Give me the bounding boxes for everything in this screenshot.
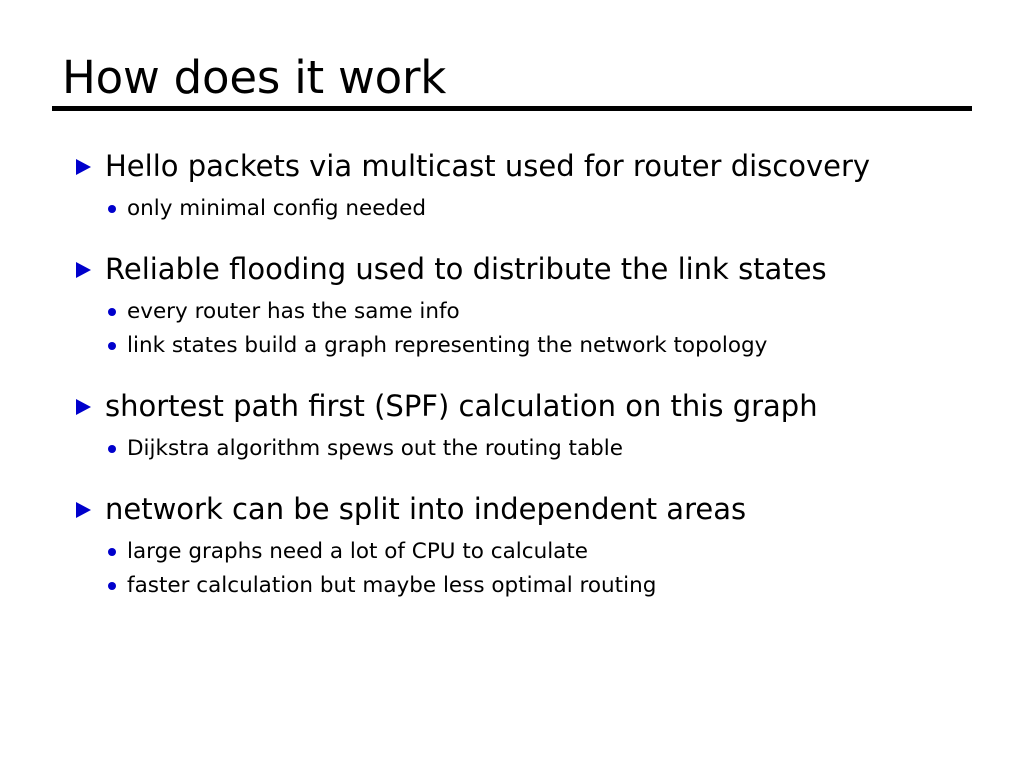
title-block: How does it work	[52, 52, 972, 111]
sub-bullet-list: only minimal config needed	[0, 192, 1024, 226]
bullet-group: Reliable flooding used to distribute the…	[0, 246, 1024, 363]
sub-bullet-list: large graphs need a lot of CPU to calcul…	[0, 535, 1024, 603]
bullet-level1-label: Hello packets via multicast used for rou…	[105, 149, 870, 183]
bullet-level1-label: shortest path first (SPF) calculation on…	[105, 389, 818, 423]
sub-bullet-list: Dijkstra algorithm spews out the routing…	[0, 432, 1024, 466]
bullet-level2-label: only minimal config needed	[127, 196, 426, 221]
bullet-level1: shortest path first (SPF) calculation on…	[0, 383, 1024, 430]
sub-bullet-list: every router has the same info link stat…	[0, 295, 1024, 363]
bullet-level1: network can be split into independent ar…	[0, 486, 1024, 533]
slide-body: Hello packets via multicast used for rou…	[0, 143, 1024, 603]
bullet-level2: every router has the same info	[0, 295, 1024, 329]
bullet-level1: Hello packets via multicast used for rou…	[0, 143, 1024, 190]
triangle-right-icon	[76, 502, 91, 518]
bullet-level2-label: faster calculation but maybe less optima…	[127, 573, 656, 598]
triangle-right-icon	[76, 399, 91, 415]
dot-bullet-icon	[108, 548, 116, 556]
triangle-right-icon	[76, 262, 91, 278]
bullet-group: Hello packets via multicast used for rou…	[0, 143, 1024, 226]
slide-canvas: How does it work Hello packets via multi…	[0, 0, 1024, 768]
bullet-group: shortest path first (SPF) calculation on…	[0, 383, 1024, 466]
triangle-right-icon	[76, 159, 91, 175]
dot-bullet-icon	[108, 308, 116, 316]
bullet-level2: link states build a graph representing t…	[0, 329, 1024, 363]
bullet-level2: only minimal config needed	[0, 192, 1024, 226]
bullet-level1-label: Reliable flooding used to distribute the…	[105, 252, 827, 286]
title-underline-rule	[52, 106, 972, 111]
page-title: How does it work	[52, 52, 972, 104]
bullet-level2-label: every router has the same info	[127, 299, 460, 324]
bullet-group: network can be split into independent ar…	[0, 486, 1024, 603]
bullet-level2: faster calculation but maybe less optima…	[0, 569, 1024, 603]
bullet-level2-label: Dijkstra algorithm spews out the routing…	[127, 436, 623, 461]
bullet-level1-label: network can be split into independent ar…	[105, 492, 746, 526]
dot-bullet-icon	[108, 445, 116, 453]
dot-bullet-icon	[108, 205, 116, 213]
dot-bullet-icon	[108, 342, 116, 350]
dot-bullet-icon	[108, 582, 116, 590]
bullet-level2: Dijkstra algorithm spews out the routing…	[0, 432, 1024, 466]
bullet-level2: large graphs need a lot of CPU to calcul…	[0, 535, 1024, 569]
bullet-level2-label: large graphs need a lot of CPU to calcul…	[127, 539, 588, 564]
bullet-level1: Reliable flooding used to distribute the…	[0, 246, 1024, 293]
bullet-level2-label: link states build a graph representing t…	[127, 333, 767, 358]
